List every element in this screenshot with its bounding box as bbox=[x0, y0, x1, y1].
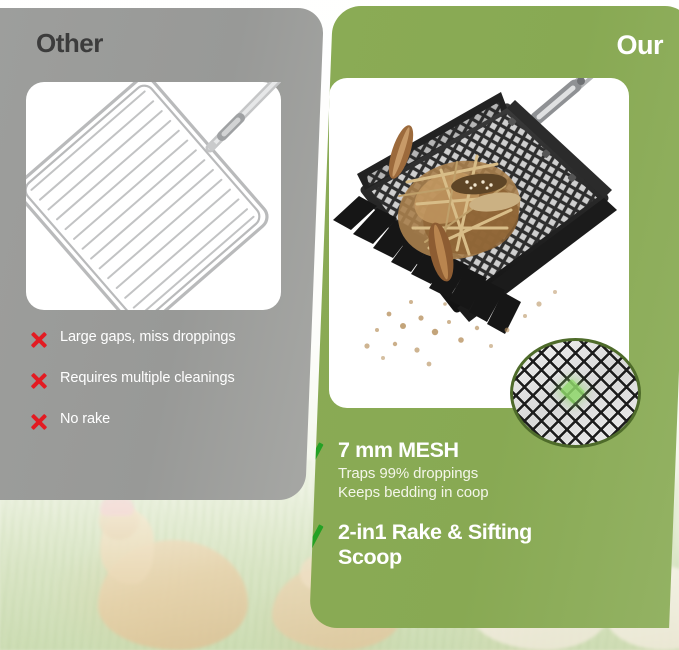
our-panel: Our bbox=[309, 6, 679, 628]
our-panel-title: Our bbox=[616, 30, 663, 61]
comparison-infographic: Other bbox=[0, 0, 679, 650]
other-panel-title: Other bbox=[36, 28, 103, 59]
pro-item: 7 mm MESH Traps 99% droppings Keeps bedd… bbox=[309, 438, 647, 502]
con-text: Requires multiple cleanings bbox=[60, 369, 235, 388]
pro-item: 2-in1 Rake & Sifting Scoop bbox=[309, 520, 647, 570]
pros-list: 7 mm MESH Traps 99% droppings Keeps bedd… bbox=[309, 438, 647, 588]
x-icon bbox=[30, 372, 47, 389]
other-product-card bbox=[26, 82, 281, 310]
con-text: No rake bbox=[60, 410, 110, 429]
con-text: Large gaps, miss droppings bbox=[60, 328, 236, 347]
pro-subtext: Keeps bedding in coop bbox=[338, 484, 489, 503]
pro-text-block: 2-in1 Rake & Sifting Scoop bbox=[338, 520, 588, 570]
pro-text-block: 7 mm MESH Traps 99% droppings Keeps bedd… bbox=[338, 438, 489, 502]
mesh-cell-highlight bbox=[560, 379, 585, 404]
mesh-closeup-inset bbox=[510, 338, 641, 448]
wire-grate-scoop-image bbox=[26, 82, 281, 310]
pro-title: 2-in1 Rake & Sifting Scoop bbox=[338, 520, 588, 570]
con-item: No rake bbox=[30, 410, 260, 430]
pro-title: 7 mm MESH bbox=[338, 438, 489, 463]
con-item: Large gaps, miss droppings bbox=[30, 328, 260, 348]
cons-list: Large gaps, miss droppings Requires mult… bbox=[30, 328, 260, 451]
pro-subtext: Traps 99% droppings bbox=[338, 465, 489, 484]
x-icon bbox=[30, 413, 47, 430]
con-item: Requires multiple cleanings bbox=[30, 369, 260, 389]
x-icon bbox=[30, 331, 47, 348]
other-panel: Other bbox=[0, 8, 324, 500]
